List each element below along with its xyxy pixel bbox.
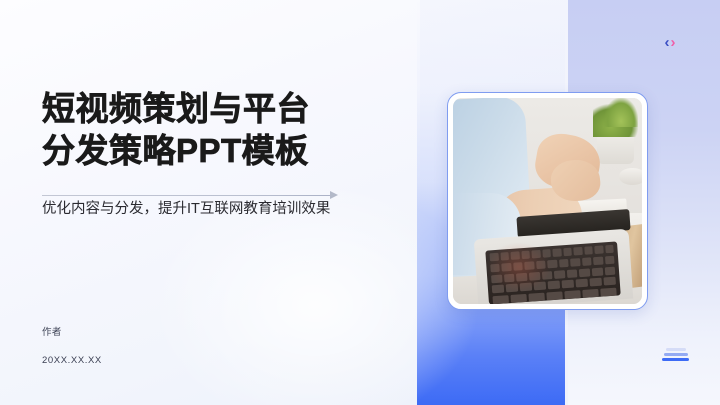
subtitle: 优化内容与分发，提升IT互联网教育培训效果 bbox=[42, 199, 382, 219]
stack-lines-icon bbox=[662, 348, 689, 364]
divider-line bbox=[42, 195, 334, 196]
author-label: 作者 bbox=[42, 325, 102, 341]
chevron-right-icon: › bbox=[671, 35, 676, 50]
code-brackets-icon: ‹ › bbox=[657, 33, 683, 51]
slide-canvas: 短视频策划与平台 分发策略PPT模板 优化内容与分发，提升IT互联网教育培训效果… bbox=[0, 0, 720, 405]
photo-warm-highlight bbox=[487, 242, 551, 291]
stack-line-middle bbox=[664, 353, 688, 356]
photo-mouse bbox=[619, 168, 642, 184]
photo-image bbox=[453, 98, 642, 304]
stack-line-bottom bbox=[662, 358, 689, 361]
arrow-head-icon bbox=[330, 191, 338, 199]
title-line-2: 分发策略PPT模板 bbox=[42, 130, 382, 172]
meta-block: 作者 20XX.XX.XX bbox=[42, 325, 102, 369]
photo-card bbox=[447, 92, 648, 310]
chevron-left-icon: ‹ bbox=[665, 35, 670, 50]
page-title: 短视频策划与平台 分发策略PPT模板 bbox=[42, 88, 382, 172]
date-label: 20XX.XX.XX bbox=[42, 353, 102, 369]
photo-plant-leaves-2 bbox=[604, 98, 638, 127]
title-line-1: 短视频策划与平台 bbox=[42, 88, 382, 130]
stack-line-top bbox=[666, 348, 686, 351]
